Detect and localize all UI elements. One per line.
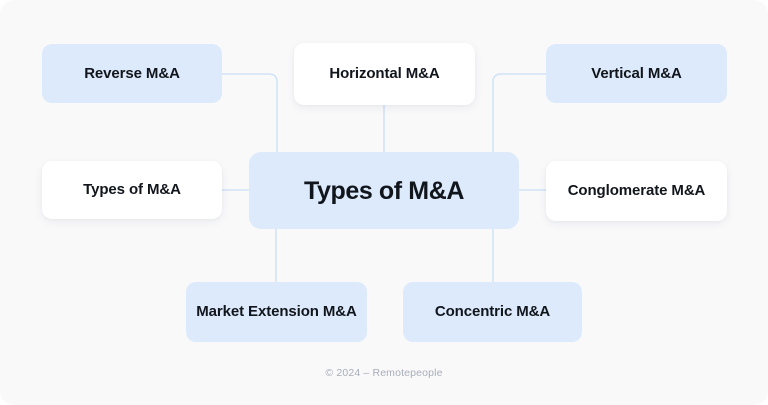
node-reverse-ma-label: Reverse M&A <box>84 64 180 83</box>
connector-reverse <box>222 74 277 152</box>
node-conglomerate-ma[interactable]: Conglomerate M&A <box>546 161 727 221</box>
center-node-types-of-ma[interactable]: Types of M&A <box>249 152 519 229</box>
node-vertical-ma-label: Vertical M&A <box>591 64 682 83</box>
node-horizontal-ma[interactable]: Horizontal M&A <box>294 43 475 105</box>
node-horizontal-ma-label: Horizontal M&A <box>329 64 439 83</box>
node-vertical-ma[interactable]: Vertical M&A <box>546 44 727 103</box>
node-concentric-ma[interactable]: Concentric M&A <box>403 282 582 342</box>
center-node-label: Types of M&A <box>304 175 464 207</box>
footer-credit: © 2024 – Remotepeople <box>0 367 768 379</box>
node-market-extension-ma[interactable]: Market Extension M&A <box>186 282 367 342</box>
node-types-of-ma[interactable]: Types of M&A <box>42 161 222 219</box>
node-concentric-ma-label: Concentric M&A <box>435 302 550 321</box>
node-market-extension-ma-label: Market Extension M&A <box>196 302 357 321</box>
node-reverse-ma[interactable]: Reverse M&A <box>42 44 222 103</box>
node-conglomerate-ma-label: Conglomerate M&A <box>568 181 706 200</box>
node-types-of-ma-label: Types of M&A <box>83 180 181 199</box>
connector-vertical <box>493 74 546 152</box>
diagram-canvas: Types of M&A Reverse M&A Horizontal M&A … <box>0 0 768 405</box>
